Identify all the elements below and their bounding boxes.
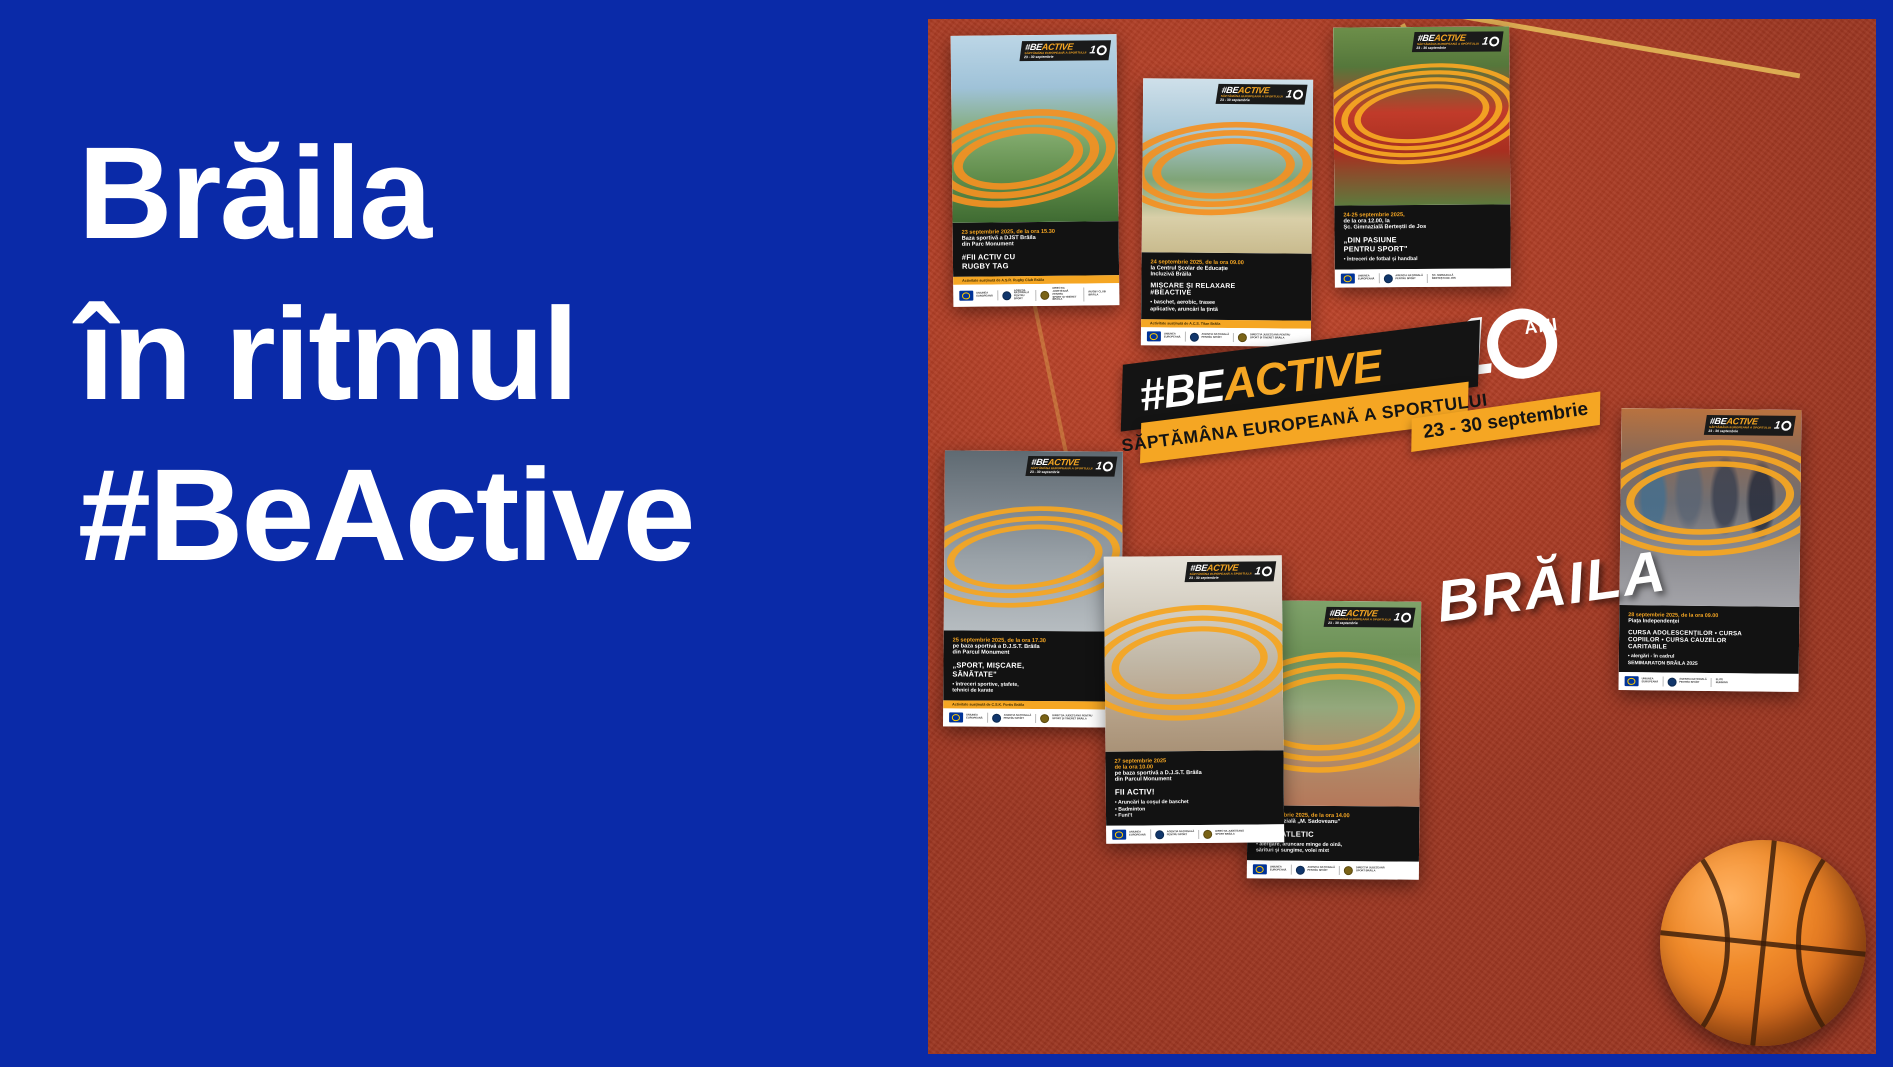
- institution-seal-icon: [1238, 333, 1247, 342]
- minitag-ring-icon: [1096, 45, 1107, 55]
- mini-beactive-tag: #BEACTIVE SĂPTĂMÂNA EUROPEANĂ A SPORTULU…: [1025, 456, 1117, 477]
- logo-label: AGENȚIA NAȚIONALĂPENTRU SPORT: [1167, 831, 1195, 837]
- headline-line-1: Brăila: [78, 112, 918, 273]
- caption-where-2: din Parcul Monument: [953, 649, 1113, 656]
- caption-where-1: Piața Independenței: [1628, 618, 1790, 626]
- mini-beactive-tag: #BEACTIVE SĂPTĂMÂNA EUROPEANĂ A SPORTULU…: [1412, 32, 1504, 53]
- institution-seal-icon: [1295, 865, 1304, 874]
- caption-title-1: FII ACTIV!: [1115, 786, 1275, 796]
- logo-eu: UNIUNEAEUROPEANĂ: [1147, 331, 1186, 341]
- poster-miscare-relaxare[interactable]: #BEACTIVE SĂPTĂMÂNA EUROPEANĂ A SPORTULU…: [1141, 78, 1313, 346]
- minitag-subtitle: SĂPTĂMÂNA EUROPEANĂ A SPORTULUI: [1025, 51, 1087, 55]
- institution-seal-icon: [1344, 866, 1353, 875]
- caption-bullets: • baschet, aerobic, trasee aplicative, a…: [1150, 299, 1302, 314]
- poster-photo-football: #BEACTIVE SĂPTĂMÂNA EUROPEANĂ A SPORTULU…: [1333, 26, 1510, 205]
- poster-logo-strip: UNIUNEAEUROPEANĂ AGENȚIA NAȚIONALĂPENTRU…: [943, 708, 1121, 727]
- logo-label: AGENȚIA NAȚIONALĂPENTRU SPORT: [1014, 290, 1032, 301]
- poster-fii-activ[interactable]: #BEACTIVE SĂPTĂMÂNA EUROPEANĂ A SPORTULU…: [1104, 555, 1284, 844]
- caption-title-2: #BEACTIVE: [1150, 289, 1302, 297]
- logo-label: ELITERUNNING: [1716, 679, 1728, 685]
- poster-photo-basketball: #BEACTIVE SĂPTĂMÂNA EUROPEANĂ A SPORTULU…: [1142, 78, 1314, 253]
- caption-bullets: • alergări - în cadrul SEMIMARATON BRĂIL…: [1628, 653, 1790, 668]
- caption-where-2: Incluzivă Brăila: [1150, 271, 1302, 278]
- logo-label: DIRECȚIA JUDEȚEANĂ PENTRUSPORT ȘI TINERE…: [1052, 288, 1079, 302]
- minitag-ten: 1: [1773, 420, 1781, 432]
- logo-djst: DIRECȚIA JUDEȚEANĂ PENTRUSPORT ȘI TINERE…: [1238, 333, 1294, 342]
- logo-label: DIRECȚIA JUDEȚEANĂ PENTRUSPORT ȘI TINERE…: [1250, 334, 1290, 340]
- logo-eu: UNIUNEAEUROPEANĂ: [1341, 273, 1380, 283]
- logo-label: RUGBY CLUB BRĂILA: [1088, 292, 1109, 298]
- logo-label: AGENȚIA NAȚIONALĂPENTRU SPORT: [1395, 275, 1423, 281]
- institution-seal-icon: [1040, 291, 1049, 300]
- institution-seal-icon: [1002, 291, 1011, 300]
- caption-title-2: PENTRU SPORT": [1344, 244, 1502, 254]
- logo-ministry: AGENȚIA NAȚIONALĂPENTRU SPORT: [1667, 677, 1712, 686]
- institution-seal-icon: [1040, 714, 1049, 723]
- logo-label: DIRECȚIA JUDEȚEANĂSPORT BRĂILA: [1215, 831, 1244, 837]
- poster-logo-strip: UNIUNEAEUROPEANĂ AGENȚIA NAȚIONALĂPENTRU…: [1247, 860, 1419, 880]
- logo-label: UNIUNEAEUROPEANĂ: [1642, 679, 1659, 685]
- minitag-dates: 23 - 30 septembrie: [1220, 99, 1282, 103]
- poster-caption-cursa: 28 septembrie 2025, de la ora 09.00 Piaț…: [1619, 605, 1800, 674]
- poster-rugby-tag[interactable]: #BEACTIVE SĂPTĂMÂNA EUROPEANĂ A SPORTULU…: [951, 34, 1120, 307]
- logo-label: UNIUNEAEUROPEANĂ: [1358, 276, 1375, 282]
- minitag-dates: 23 - 30 septembrie: [1189, 576, 1251, 580]
- logo-ministry: AGENȚIA NAȚIONALĂPENTRU SPORT: [1155, 829, 1200, 838]
- minitag-dates: 23 - 30 septembrie: [1030, 471, 1092, 475]
- minitag-ring-icon: [1488, 37, 1499, 47]
- minitag-dates: 23 - 30 septembrie: [1416, 46, 1478, 50]
- institution-seal-icon: [1667, 677, 1676, 686]
- minitag-ring-icon: [1292, 90, 1303, 100]
- eu-flag-icon: [1341, 273, 1355, 283]
- poster-sport-miscare-sanatate[interactable]: #BEACTIVE SĂPTĂMÂNA EUROPEANĂ A SPORTULU…: [943, 450, 1123, 727]
- poster-logo-strip: UNIUNEAEUROPEANĂ AGENȚIA NAȚIONALĂPENTRU…: [1335, 268, 1511, 287]
- minitag-ten: 1: [1254, 565, 1262, 577]
- banner-hash-be: #BE: [1136, 360, 1226, 421]
- headline-line-3: #BeActive: [78, 434, 918, 595]
- poster-logo-strip: UNIUNEAEUROPEANĂ AGENȚIA NAȚIONALĂPENTRU…: [953, 284, 1119, 307]
- logo-label: AGENȚIA NAȚIONALĂPENTRU SPORT: [1307, 867, 1335, 873]
- logo-eu: UNIUNEAEUROPEANĂ: [959, 291, 998, 301]
- logo-label: UNIUNEAEUROPEANĂ: [976, 293, 993, 299]
- minitag-ten: 1: [1481, 36, 1489, 48]
- logo-ministry: AGENȚIA NAȚIONALĂPENTRU SPORT: [1383, 273, 1428, 282]
- minitag-ten: 1: [1095, 461, 1103, 473]
- eu-flag-icon: [1147, 331, 1161, 341]
- poster-caption-rugby: 23 septembrie 2025, de la ora 15.30 Baza…: [953, 222, 1120, 278]
- poster-photo-rugby: #BEACTIVE SĂPTĂMÂNA EUROPEANĂ A SPORTULU…: [951, 34, 1119, 223]
- anniversary-label: ANI: [1523, 314, 1559, 339]
- logo-ministry: AGENȚIA NAȚIONALĂPENTRU SPORT: [992, 713, 1037, 722]
- caption-where-2: din Parcul Monument: [1115, 775, 1275, 782]
- logo-eu: UNIUNEAEUROPEANĂ: [1625, 676, 1664, 686]
- logo-label: AGENȚIA NAȚIONALĂPENTRU SPORT: [1004, 715, 1032, 721]
- logo-label: ȘC. GIMNAZIALĂBERTEȘTII DE JOS: [1432, 275, 1456, 281]
- poster-collage-panel: #BEACTIVE SĂPTĂMÂNA EUROPEANĂ A SPORTULU…: [928, 19, 1876, 1054]
- logo-label: UNIUNEAEUROPEANĂ: [1270, 867, 1287, 873]
- minitag-ring-icon: [1400, 613, 1411, 623]
- caption-bullets: • întreceri sportive, ștafete, tehnici d…: [952, 681, 1112, 696]
- logo-label: UNIUNEAEUROPEANĂ: [1129, 832, 1146, 838]
- caption-title-2: RUGBY TAG: [962, 261, 1110, 272]
- poster-caption-pasiune: 24-25 septembrie 2025, de la ora 12.00, …: [1334, 205, 1510, 270]
- eu-flag-icon: [1112, 830, 1126, 840]
- logo-elite-running: ELITERUNNING: [1716, 679, 1732, 685]
- institution-seal-icon: [1189, 332, 1198, 341]
- minitag-be: #BE: [1025, 42, 1043, 52]
- minitag-ring-icon: [1780, 421, 1792, 431]
- minitag-subtitle: SĂPTĂMÂNA EUROPEANĂ A SPORTULUI: [1189, 572, 1251, 576]
- mini-beactive-tag: #BEACTIVE SĂPTĂMÂNA EUROPEANĂ A SPORTULU…: [1216, 84, 1308, 105]
- eu-flag-icon: [1625, 676, 1639, 686]
- poster-logo-strip: UNIUNEAEUROPEANĂ AGENȚIA NAȚIONALĂPENTRU…: [1106, 824, 1284, 844]
- minitag-ten: 1: [1393, 612, 1401, 624]
- logo-ministry: AGENȚIA NAȚIONALĂPENTRU SPORT: [1295, 865, 1340, 874]
- caption-bullets: • Aruncări la coșul de baschet • Badmint…: [1115, 798, 1275, 820]
- institution-seal-icon: [1203, 829, 1212, 838]
- logo-label: DIRECȚIA JUDEȚEANĂ PENTRUSPORT ȘI TINERE…: [1052, 715, 1092, 721]
- headline-line-2: în ritmul: [78, 273, 918, 434]
- eu-flag-icon: [959, 291, 973, 301]
- logo-djst: DIRECȚIA JUDEȚEANĂSPORT BRĂILA: [1203, 829, 1248, 838]
- minitag-dates: 23 - 30 septembrie: [1708, 429, 1770, 433]
- basketball-seam-curve-right: [1796, 840, 1866, 1046]
- logo-djst: DIRECȚIA JUDEȚEANĂSPORT BRĂILA: [1344, 866, 1389, 875]
- logo-eu: UNIUNEAEUROPEANĂ: [1253, 864, 1292, 874]
- caption-title-3: CARITABILE: [1628, 643, 1790, 652]
- logo-djst: DIRECȚIA JUDEȚEANĂ PENTRUSPORT ȘI TINERE…: [1040, 714, 1096, 723]
- logo-ministry: AGENȚIA NAȚIONALĂPENTRU SPORT: [1002, 290, 1037, 301]
- institution-seal-icon: [1383, 274, 1392, 283]
- mini-beactive-tag: #BEACTIVE SĂPTĂMÂNA EUROPEANĂ A SPORTULU…: [1184, 561, 1276, 582]
- minitag-subtitle: SĂPTĂMÂNA EUROPEANĂ A SPORTULUI: [1708, 426, 1770, 430]
- minitag-ring-icon: [1261, 566, 1272, 576]
- mini-beactive-tag: #BEACTIVE SĂPTĂMÂNA EUROPEANĂ A SPORTULU…: [1704, 415, 1796, 436]
- caption-where-2: Șc. Gimnazială Berteștii de Jos: [1343, 224, 1501, 231]
- logo-label: DIRECȚIA JUDEȚEANĂSPORT BRĂILA: [1356, 867, 1385, 873]
- institution-seal-icon: [992, 713, 1001, 722]
- poster-photo-karate: #BEACTIVE SĂPTĂMÂNA EUROPEANĂ A SPORTULU…: [944, 450, 1123, 631]
- mini-beactive-tag: #BEACTIVE SĂPTĂMÂNA EUROPEANĂ A SPORTULU…: [1324, 607, 1416, 628]
- page-title: Brăila în ritmul #BeActive: [78, 112, 918, 595]
- mini-beactive-tag: #BEACTIVE SĂPTĂMÂNA EUROPEANĂ A SPORTULU…: [1020, 40, 1112, 61]
- minitag-dates: 23 - 30 septembrie: [1328, 622, 1390, 626]
- poster-canvas: Brăila în ritmul #BeActive: [0, 0, 1893, 1067]
- logo-rugby-club: RUGBY CLUB BRĂILA: [1088, 292, 1113, 298]
- poster-din-pasiune-pentru-sport[interactable]: #BEACTIVE SĂPTĂMÂNA EUROPEANĂ A SPORTULU…: [1333, 26, 1511, 287]
- poster-logo-strip: UNIUNEAEUROPEANĂ AGENȚIA NAȚIONALĂPENTRU…: [1619, 672, 1799, 692]
- logo-label: AGENȚIA NAȚIONALĂPENTRU SPORT: [1201, 334, 1229, 340]
- caption-bullets: • întreceri de fotbal și handbal: [1344, 256, 1502, 264]
- logo-scoala: ȘC. GIMNAZIALĂBERTEȘTII DE JOS: [1432, 275, 1460, 281]
- logo-label: UNIUNEAEUROPEANĂ: [1164, 334, 1181, 340]
- caption-where-2: din Parc Monument: [962, 241, 1110, 249]
- logo-eu: UNIUNEAEUROPEANĂ: [1112, 829, 1151, 839]
- poster-caption-miscare: 24 septembrie 2025, de la ora 09.00 la C…: [1141, 252, 1312, 321]
- poster-caption-sanatate: 25 septembrie 2025, de la ora 17.30 pe b…: [943, 630, 1121, 702]
- basketball-icon: [1660, 840, 1866, 1046]
- eu-flag-icon: [1253, 864, 1267, 874]
- logo-label: UNIUNEAEUROPEANĂ: [966, 715, 983, 721]
- institution-seal-icon: [1155, 830, 1164, 839]
- logo-djst: DIRECȚIA JUDEȚEANĂ PENTRUSPORT ȘI TINERE…: [1040, 288, 1084, 302]
- logo-eu: UNIUNEAEUROPEANĂ: [949, 712, 988, 722]
- logo-ministry: AGENȚIA NAȚIONALĂPENTRU SPORT: [1189, 332, 1234, 341]
- caption-bullets: • alergare, aruncare minge de oină, sări…: [1256, 841, 1410, 856]
- minitag-ring-icon: [1102, 462, 1113, 472]
- caption-title-2: SĂNĂTATE": [952, 669, 1112, 679]
- poster-photo-wheelchair-basketball: #BEACTIVE SĂPTĂMÂNA EUROPEANĂ A SPORTULU…: [1104, 555, 1284, 751]
- basketball-seam-curve-left: [1660, 840, 1730, 1046]
- poster-caption-fii-activ: 27 septembrie 2025 de la ora 10.00 pe ba…: [1105, 750, 1284, 826]
- eu-flag-icon: [949, 712, 963, 722]
- logo-label: AGENȚIA NAȚIONALĂPENTRU SPORT: [1679, 679, 1707, 685]
